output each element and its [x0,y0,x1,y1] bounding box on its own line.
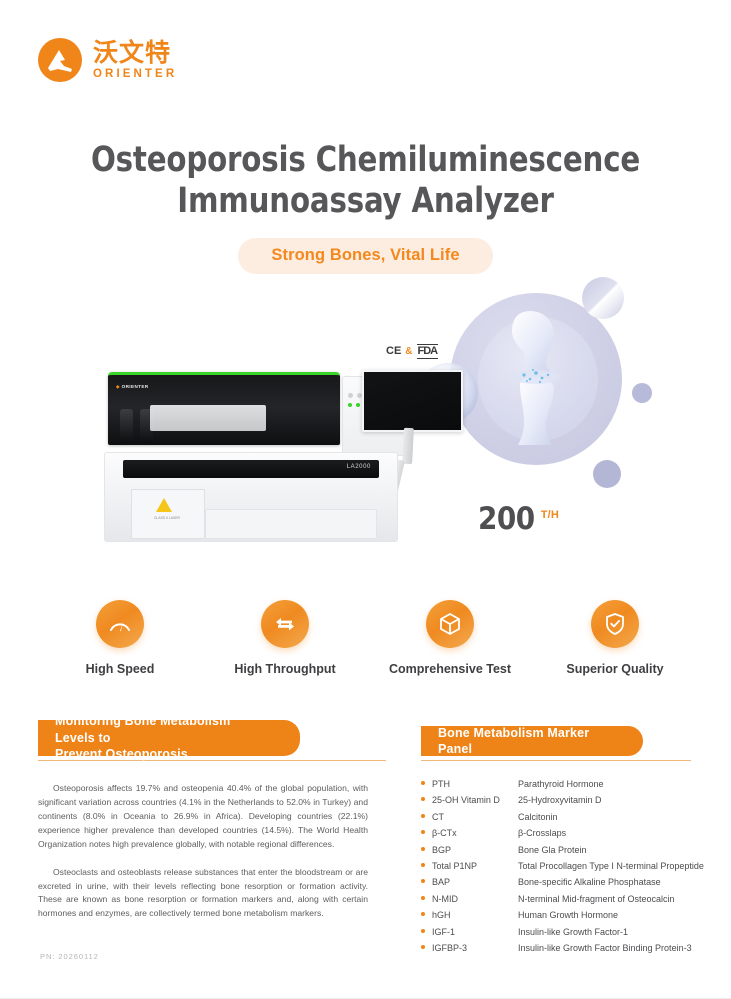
cube-icon [426,600,474,648]
bullet-icon [421,814,425,818]
left-section-band: Monitoring Bone Metabolism Levels to Pre… [38,720,300,756]
bullet-icon [421,797,425,801]
list-item: 25-OH Vitamin D 25-Hydroxyvitamin D [421,796,711,805]
throughput-value: 200 [478,504,535,535]
brand-logo: 沃文特 ORIENTER [38,38,177,82]
marker-abbr: CT [432,813,518,822]
bullet-icon [421,929,425,933]
throughput-badge: 200 T/H [478,504,559,535]
right-section-header: Bone Metabolism Marker Panel [421,726,691,761]
brand-name-en: ORIENTER [93,69,177,81]
product-photo: ◆ ORIENTER LA2000 CLASS II LASER [100,360,470,560]
page-title: Osteoporosis Chemiluminescence Immunoass… [26,140,706,221]
feature-label: Comprehensive Test [375,661,525,677]
hero-block: Osteoporosis Chemiluminescence Immunoass… [0,140,731,274]
left-section-header: Monitoring Bone Metabolism Levels to Pre… [38,720,386,761]
right-heading: Bone Metabolism Marker Panel [438,725,613,758]
certification-marks: CE & FDA [386,344,438,359]
feature-label: High Throughput [210,661,360,677]
marker-full-name: N-terminal Mid-fragment of Osteocalcin [518,895,675,904]
marker-full-name: Calcitonin [518,813,558,822]
marker-abbr: Total P1NP [432,862,518,871]
product-model-label: LA2000 [347,464,371,470]
ce-mark-icon: CE [386,345,401,357]
marker-full-name: Insulin-like Growth Factor-1 [518,928,628,937]
analyzer-upper-module: ◆ ORIENTER [108,372,340,445]
analyzer-front-strip: LA2000 [123,460,379,478]
bullet-icon [421,847,425,851]
bullet-icon [421,879,425,883]
right-section-band: Bone Metabolism Marker Panel [421,726,643,756]
marker-full-name: Parathyroid Hormone [518,780,604,789]
product-brochure-page: 沃文特 ORIENTER Osteoporosis Chemiluminesce… [0,0,731,999]
analyzer-monitor [362,370,463,432]
knee-joint-icon [490,309,586,449]
brand-name-cn: 沃文特 [93,40,177,65]
art-dot-small-top [582,277,624,319]
list-item: CT Calcitonin [421,813,711,822]
orienter-mountain-logo-icon [38,38,82,82]
bullet-icon [421,896,425,900]
analyzer-brand-mark: ◆ ORIENTER [116,384,149,390]
bullet-icon [421,863,425,867]
feature-list: High Speed High Throughput Comprehensive… [45,600,690,677]
marker-abbr: BAP [432,878,518,887]
marker-abbr: hGH [432,911,518,920]
tagline-pill: Strong Bones, Vital Life [238,238,492,274]
monitor-arm-upper [402,428,414,464]
list-item: N-MID N-terminal Mid-fragment of Osteoca… [421,895,711,904]
analyzer-lower-drawer [205,509,377,539]
list-item: Total P1NP Total Procollagen Type I N-te… [421,862,711,871]
bullet-icon [421,781,425,785]
feature-label: High Speed [45,661,195,677]
marker-abbr: β-CTx [432,829,518,838]
feature-superior-quality: Superior Quality [540,600,690,677]
cert-separator: & [405,346,412,357]
marker-abbr: 25-OH Vitamin D [432,796,518,805]
bullet-icon [421,945,425,949]
part-number: PN: 20260112 [40,952,99,961]
bullet-icon [421,912,425,916]
feature-comprehensive-test: Comprehensive Test [375,600,525,677]
marker-full-name: Insulin-like Growth Factor Binding Prote… [518,944,692,953]
marker-abbr: IGF-1 [432,928,518,937]
marker-full-name: Bone Gla Protein [518,846,587,855]
biohazard-warning-icon [156,498,172,512]
left-heading-line-1: Monitoring Bone Metabolism Levels to [55,714,230,745]
marker-abbr: IGFBP-3 [432,944,518,953]
list-item: BAP Bone-specific Alkaline Phosphatase [421,878,711,887]
fda-mark-icon: FDA [417,344,439,359]
art-dot-tiny-right [632,383,652,403]
right-section-rule [421,760,691,761]
marker-full-name: β-Crosslaps [518,829,566,838]
feature-high-speed: High Speed [45,600,195,677]
marker-abbr: N-MID [432,895,518,904]
reagent-vials [118,397,162,443]
list-item: PTH Parathyroid Hormone [421,780,711,789]
paragraph-2: Osteoclasts and osteoblasts release subs… [38,866,368,922]
speedometer-icon [96,600,144,648]
marker-panel-list: PTH Parathyroid Hormone 25-OH Vitamin D … [421,780,711,960]
marker-full-name: Bone-specific Alkaline Phosphatase [518,878,661,887]
page-title-line-2: Immunoassay Analyzer [26,181,706,222]
marker-full-name: Human Growth Hormone [518,911,618,920]
bidirectional-arrows-icon [261,600,309,648]
marker-full-name: 25-Hydroxyvitamin D [518,796,602,805]
feature-label: Superior Quality [540,661,690,677]
left-body-text: Osteoporosis affects 19.7% and osteopeni… [38,782,368,935]
feature-high-throughput: High Throughput [210,600,360,677]
marker-abbr: PTH [432,780,518,789]
list-item: BGP Bone Gla Protein [421,846,711,855]
list-item: β-CTx β-Crosslaps [421,829,711,838]
list-item: IGF-1 Insulin-like Growth Factor-1 [421,928,711,937]
analyzer-access-door: CLASS II LASER [131,489,205,539]
marker-abbr: BGP [432,846,518,855]
page-title-line-1: Osteoporosis Chemiluminescence [26,140,706,181]
list-item: IGFBP-3 Insulin-like Growth Factor Bindi… [421,944,711,953]
marker-full-name: Total Procollagen Type I N-terminal Prop… [518,862,704,871]
shield-check-icon [591,600,639,648]
left-heading-line-2: Prevent Osteoporosis [55,747,188,761]
warning-label-text: CLASS II LASER [146,516,188,520]
bullet-icon [421,830,425,834]
list-item: hGH Human Growth Hormone [421,911,711,920]
analyzer-base-cabinet: LA2000 CLASS II LASER [104,452,398,542]
throughput-unit: T/H [541,509,559,521]
paragraph-1: Osteoporosis affects 19.7% and osteopeni… [38,782,368,852]
art-dot-bottom [593,460,621,488]
